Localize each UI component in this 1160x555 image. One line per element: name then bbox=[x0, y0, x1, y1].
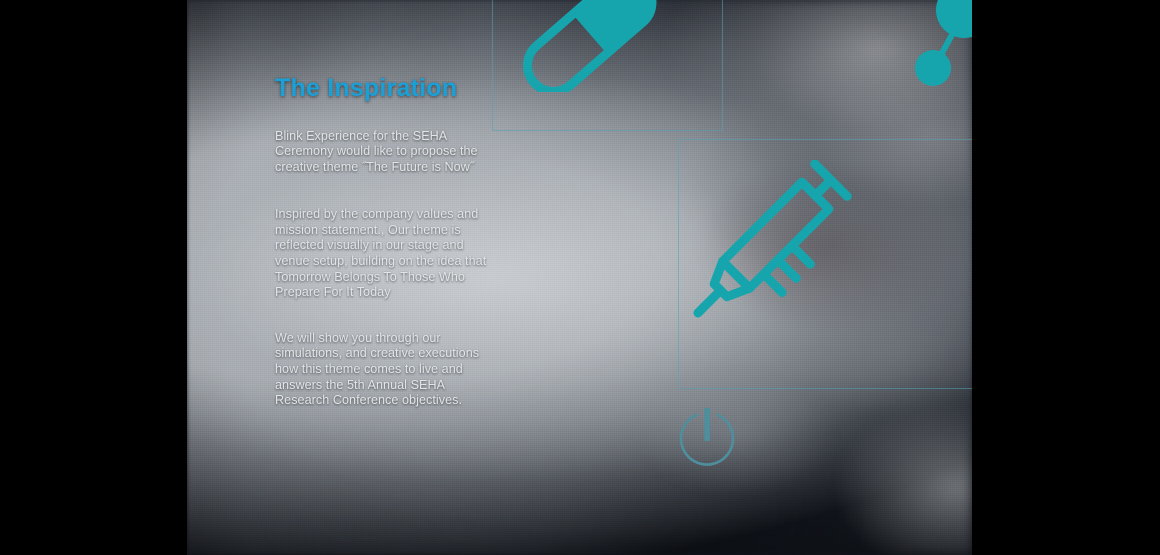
power-button-icon bbox=[676, 402, 738, 470]
body-paragraph-1: Blink Experience for the SEHA Ceremony w… bbox=[275, 129, 515, 176]
body-paragraph-3: We will show you through our simulations… bbox=[275, 331, 515, 409]
molecule-nodes-icon bbox=[912, 0, 972, 97]
letterbox-right bbox=[972, 0, 1160, 555]
syringe-icon bbox=[677, 160, 907, 375]
page-title: The Inspiration bbox=[275, 75, 515, 103]
body-paragraph-2: Inspired by the company values and missi… bbox=[275, 207, 515, 301]
text-block: The Inspiration Blink Experience for the… bbox=[275, 75, 515, 409]
letterbox-left bbox=[0, 0, 187, 555]
pill-capsule-icon bbox=[517, 0, 667, 92]
slide-canvas: The Inspiration Blink Experience for the… bbox=[0, 0, 1160, 555]
presentation-slide: The Inspiration Blink Experience for the… bbox=[187, 0, 972, 555]
